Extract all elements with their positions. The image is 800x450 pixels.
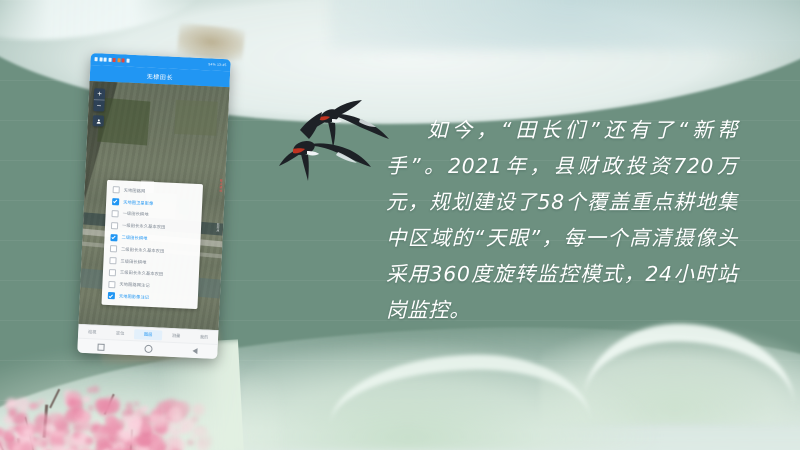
tab-0[interactable]: 巡视 [78, 326, 106, 337]
layer-item-label: 二级田长永久基本农田 [121, 246, 165, 254]
layer-checkbox[interactable] [109, 257, 116, 264]
swallow-birds-illustration [272, 88, 392, 186]
layer-item-label: 三级田长耕地 [120, 258, 146, 265]
article-paragraph: 如今，“田长们”还有了“新帮手”。2021年，县财政投资720万元，规划建设了5… [386, 112, 738, 328]
map-label-red: 重点耕地 [219, 179, 224, 193]
map-zoom-controls[interactable]: + − [93, 88, 105, 111]
layer-checkbox[interactable] [111, 222, 118, 229]
blossom-petal [32, 425, 42, 435]
phone-mockup: 54% 13:45 无棣田长 重点耕地 监控点 + [77, 53, 230, 359]
layer-item-label: 天地图卫星影像 [123, 199, 154, 206]
map-field-parcel [174, 99, 217, 135]
layer-item-label: 天地图影像注记 [119, 293, 150, 300]
recents-button[interactable] [97, 343, 104, 350]
map-label-white: 监控点 [216, 223, 220, 232]
status-bar-icons [95, 57, 130, 63]
blossom-petal [126, 420, 143, 436]
zoom-out-button[interactable]: − [93, 99, 105, 111]
blossom-petal [91, 385, 100, 392]
locate-button[interactable] [93, 115, 104, 126]
tab-1[interactable]: 定位 [106, 327, 134, 338]
tan-brush-smear-upper [177, 23, 246, 62]
blossom-branch [50, 388, 61, 408]
blossom-petal [32, 402, 40, 408]
blossom-petal [82, 396, 91, 403]
home-button[interactable] [144, 345, 152, 353]
layer-checkbox[interactable] [108, 292, 115, 299]
person-pin-icon [95, 118, 101, 124]
blossom-petal [95, 398, 110, 412]
blossom-petal [62, 415, 71, 422]
back-button[interactable] [192, 348, 197, 354]
layer-checkbox[interactable] [111, 210, 118, 217]
watercolor-wash-top-blue [330, 0, 800, 50]
layer-item-label: 天地图路网 [124, 188, 146, 195]
zoom-in-button[interactable]: + [94, 88, 105, 99]
layer-checkbox[interactable] [113, 187, 120, 194]
layer-checkbox[interactable] [108, 281, 115, 288]
blossom-petal [134, 402, 139, 406]
tab-2[interactable]: 图层 [134, 329, 162, 340]
app-title: 无棣田长 [147, 71, 174, 81]
blossom-petal [20, 407, 27, 413]
swallow-bird-upper [306, 100, 389, 148]
blossom-petal [88, 405, 94, 411]
layer-item-label: 二级田长耕地 [121, 235, 147, 242]
layer-checkbox[interactable] [110, 245, 117, 252]
blossom-petal [141, 406, 148, 412]
layer-item-label: 一级田长耕地 [122, 211, 148, 218]
blossom-petal [77, 410, 83, 416]
blossom-petal [93, 427, 108, 441]
layer-item-label: 一级田长永久基本农田 [122, 223, 166, 231]
layer-item-label: 三级田长永久基本农田 [120, 270, 164, 278]
screenshot-canvas: 54% 13:45 无棣田长 重点耕地 监控点 + [0, 0, 800, 450]
tab-4[interactable]: 我的 [190, 331, 218, 342]
layer-item-label: 天地图路网注记 [119, 282, 150, 289]
map-field-parcel [97, 98, 151, 146]
status-bar-battery-time: 54% 13:45 [208, 62, 226, 67]
layer-checkbox[interactable] [109, 269, 116, 276]
phone-screen: 54% 13:45 无棣田长 重点耕地 监控点 + [77, 53, 230, 359]
blossom-petal [125, 402, 133, 410]
blossom-petal [76, 399, 82, 405]
tab-3[interactable]: 测量 [162, 330, 190, 341]
layer-list-panel[interactable]: 天地图路网天地图卫星影像一级田长耕地一级田长永久基本农田二级田长耕地二级田长永久… [101, 180, 203, 309]
map-view[interactable]: 重点耕地 监控点 + − 天地图路网天地图卫星影像一级田长耕地一级田长永久基本农… [79, 81, 230, 330]
layer-checkbox[interactable] [112, 198, 119, 205]
layer-checkbox[interactable] [110, 234, 117, 241]
article-text-block: 如今，“田长们”还有了“新帮手”。2021年，县财政投资720万元，规划建设了5… [386, 112, 738, 328]
